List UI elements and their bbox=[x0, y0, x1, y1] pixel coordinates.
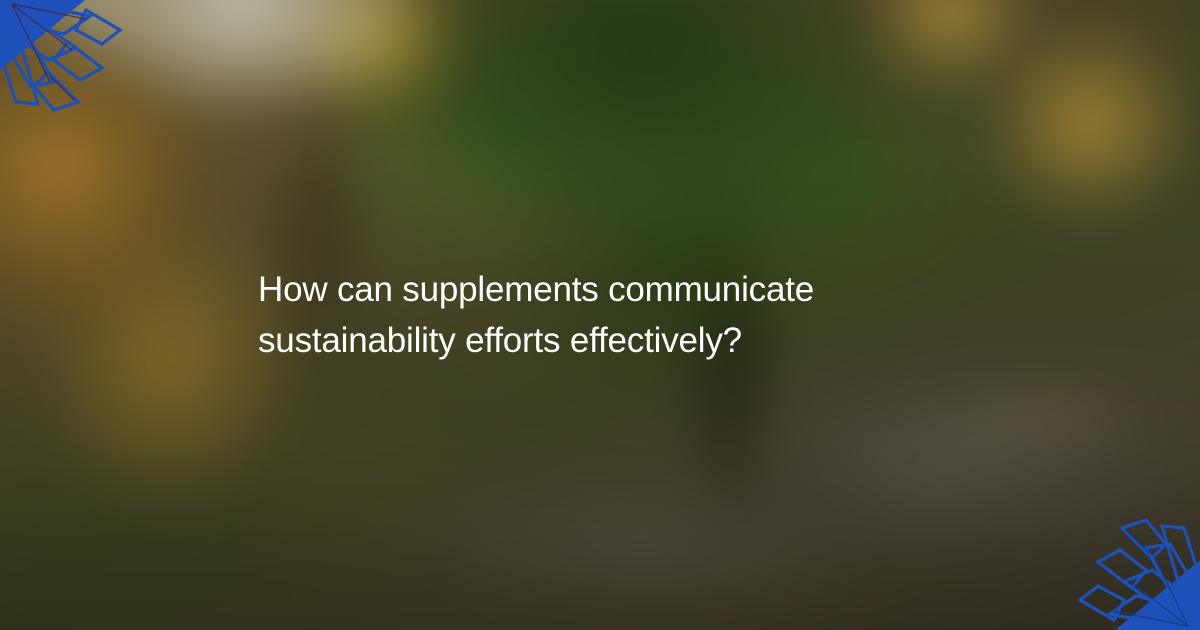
headline-line-1: How can supplements communicate bbox=[258, 270, 814, 309]
headline-card: How can supplements communicate sustaina… bbox=[100, 198, 1100, 433]
headline-line-2: sustainability efforts effectively? bbox=[258, 316, 952, 367]
headline-card-inner: How can supplements communicate sustaina… bbox=[100, 265, 1100, 367]
page-title: How can supplements communicate sustaina… bbox=[258, 265, 952, 367]
share-card-canvas: How can supplements communicate sustaina… bbox=[0, 0, 1200, 630]
